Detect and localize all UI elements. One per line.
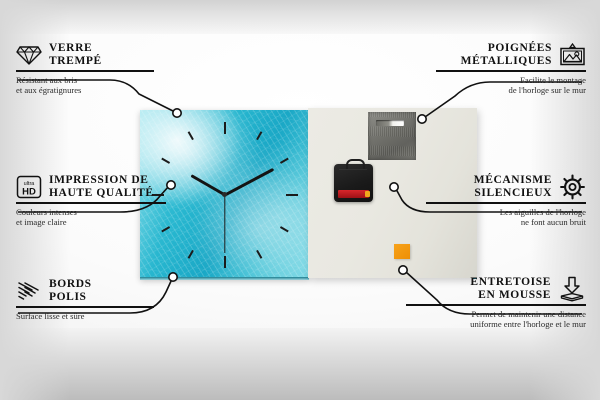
clock-tick	[256, 249, 262, 258]
battery	[338, 190, 369, 198]
callout-title-line1: IMPRESSION DE	[49, 174, 149, 186]
callout-subtitle-line1: Les aiguilles de l'horloge	[500, 207, 586, 217]
callout-header: ENTRETOISE EN MOUSSE	[396, 276, 586, 302]
clock-tick	[286, 194, 298, 196]
callout-subtitle-line2: ne font aucun bruit	[521, 217, 586, 227]
callout-subtitle: Résistant aux bris et aux égratignures	[16, 75, 166, 96]
callout-title-line2: TREMPÉ	[49, 55, 102, 67]
callout-verre-trempe: VERRE TREMPÉ Résistant aux bris et aux é…	[16, 42, 166, 96]
polished-edges-icon	[16, 280, 42, 302]
clock-tick	[161, 157, 170, 163]
callout-subtitle: Couleurs intenses et image claire	[16, 207, 176, 228]
callout-rule	[406, 304, 586, 306]
callout-header: MÉCANISME SILENCIEUX	[416, 174, 586, 200]
callout-title: VERRE TREMPÉ	[49, 42, 102, 68]
callout-subtitle: Facilite le montage de l'horloge sur le …	[426, 75, 586, 96]
callout-poignees-metalliques: POIGNÉES MÉTALLIQUES Facilite le montage…	[426, 42, 586, 96]
callout-rule	[16, 70, 154, 72]
callout-title-line1: ENTRETOISE	[470, 276, 551, 288]
callout-header: VERRE TREMPÉ	[16, 42, 166, 68]
callout-rule	[436, 70, 586, 72]
clock-tick	[224, 256, 226, 268]
callout-subtitle-line1: Couleurs intenses	[16, 207, 77, 217]
hanger-keyhole-slot	[376, 120, 404, 126]
callout-title-line1: POIGNÉES	[488, 42, 552, 54]
clock-second-hand	[224, 195, 225, 253]
clock-tick	[256, 131, 262, 140]
foam-spacer-pad	[394, 244, 410, 259]
callout-title: BORDS POLIS	[49, 278, 92, 304]
callout-subtitle: Surface lisse et sûre	[16, 311, 166, 322]
callout-title: IMPRESSION DE HAUTE QUALITÉ	[49, 174, 154, 200]
callout-rule	[16, 306, 154, 308]
clock-tick	[279, 226, 288, 232]
background-gradient-bottom	[0, 328, 600, 400]
foam-spacer-icon	[558, 276, 586, 302]
picture-hanger-icon	[559, 43, 586, 67]
metal-hanger-plate	[368, 112, 416, 160]
callout-bords-polis: BORDS POLIS Surface lisse et sûre	[16, 278, 166, 321]
clock-tick	[279, 157, 288, 163]
diamond-icon	[16, 44, 42, 66]
clock-tick	[224, 122, 226, 134]
callout-header: POIGNÉES MÉTALLIQUES	[426, 42, 586, 68]
callout-mecanisme-silencieux: MÉCANISME SILENCIEUX Les aiguilles d	[416, 174, 586, 228]
callout-title: MÉCANISME SILENCIEUX	[474, 174, 552, 200]
callout-impression-haute-qualite: ultra HD IMPRESSION DE HAUTE QUALITÉ Cou…	[16, 174, 176, 228]
callout-rule	[426, 202, 586, 204]
callout-subtitle: Les aiguilles de l'horloge ne font aucun…	[416, 207, 586, 228]
callout-header: BORDS POLIS	[16, 278, 166, 304]
callout-title-line1: VERRE	[49, 42, 92, 54]
infographic-canvas: VERRE TREMPÉ Résistant aux bris et aux é…	[0, 0, 600, 400]
mechanism-surface-detail	[339, 169, 367, 187]
callout-subtitle-line1: Surface lisse et sûre	[16, 311, 85, 321]
callout-entretoise-en-mousse: ENTRETOISE EN MOUSSE Permet de maintenir…	[396, 276, 586, 330]
callout-title-line1: MÉCANISME	[474, 174, 552, 186]
callout-subtitle-line1: Permet de maintenir une distance	[471, 309, 586, 319]
clock-tick	[187, 131, 193, 140]
callout-subtitle-line1: Facilite le montage	[520, 75, 586, 85]
clock-mechanism-housing	[334, 164, 373, 202]
callout-subtitle-line2: uniforme entre l'horloge et le mur	[470, 319, 586, 329]
clock-center-hub	[222, 192, 227, 197]
callout-subtitle-line2: et image claire	[16, 217, 67, 227]
callout-subtitle-line1: Résistant aux bris	[16, 75, 77, 85]
callout-title-line2: EN MOUSSE	[478, 289, 551, 301]
callout-title-line2: HAUTE QUALITÉ	[49, 187, 154, 199]
callout-title-line2: MÉTALLIQUES	[461, 55, 552, 67]
callout-title: ENTRETOISE EN MOUSSE	[470, 276, 551, 302]
clock-hour-hand	[190, 174, 225, 196]
mechanism-hanger-loop	[346, 159, 365, 169]
callout-title-line2: POLIS	[49, 291, 87, 303]
clock-tick	[187, 249, 193, 258]
background-gradient-top	[0, 0, 600, 34]
gear-icon	[559, 174, 586, 200]
ultra-hd-icon: ultra HD	[16, 175, 42, 199]
callout-title: POIGNÉES MÉTALLIQUES	[461, 42, 552, 68]
callout-subtitle-line2: et aux égratignures	[16, 85, 81, 95]
clock-minute-hand	[224, 167, 274, 195]
callout-title-line2: SILENCIEUX	[474, 187, 552, 199]
ultra-hd-icon-bottom-text: HD	[22, 187, 36, 198]
callout-rule	[16, 202, 166, 204]
callout-title-line1: BORDS	[49, 278, 92, 290]
callout-subtitle-line2: de l'horloge sur le mur	[509, 85, 586, 95]
callout-header: ultra HD IMPRESSION DE HAUTE QUALITÉ	[16, 174, 176, 200]
callout-subtitle: Permet de maintenir une distance uniform…	[396, 309, 586, 330]
